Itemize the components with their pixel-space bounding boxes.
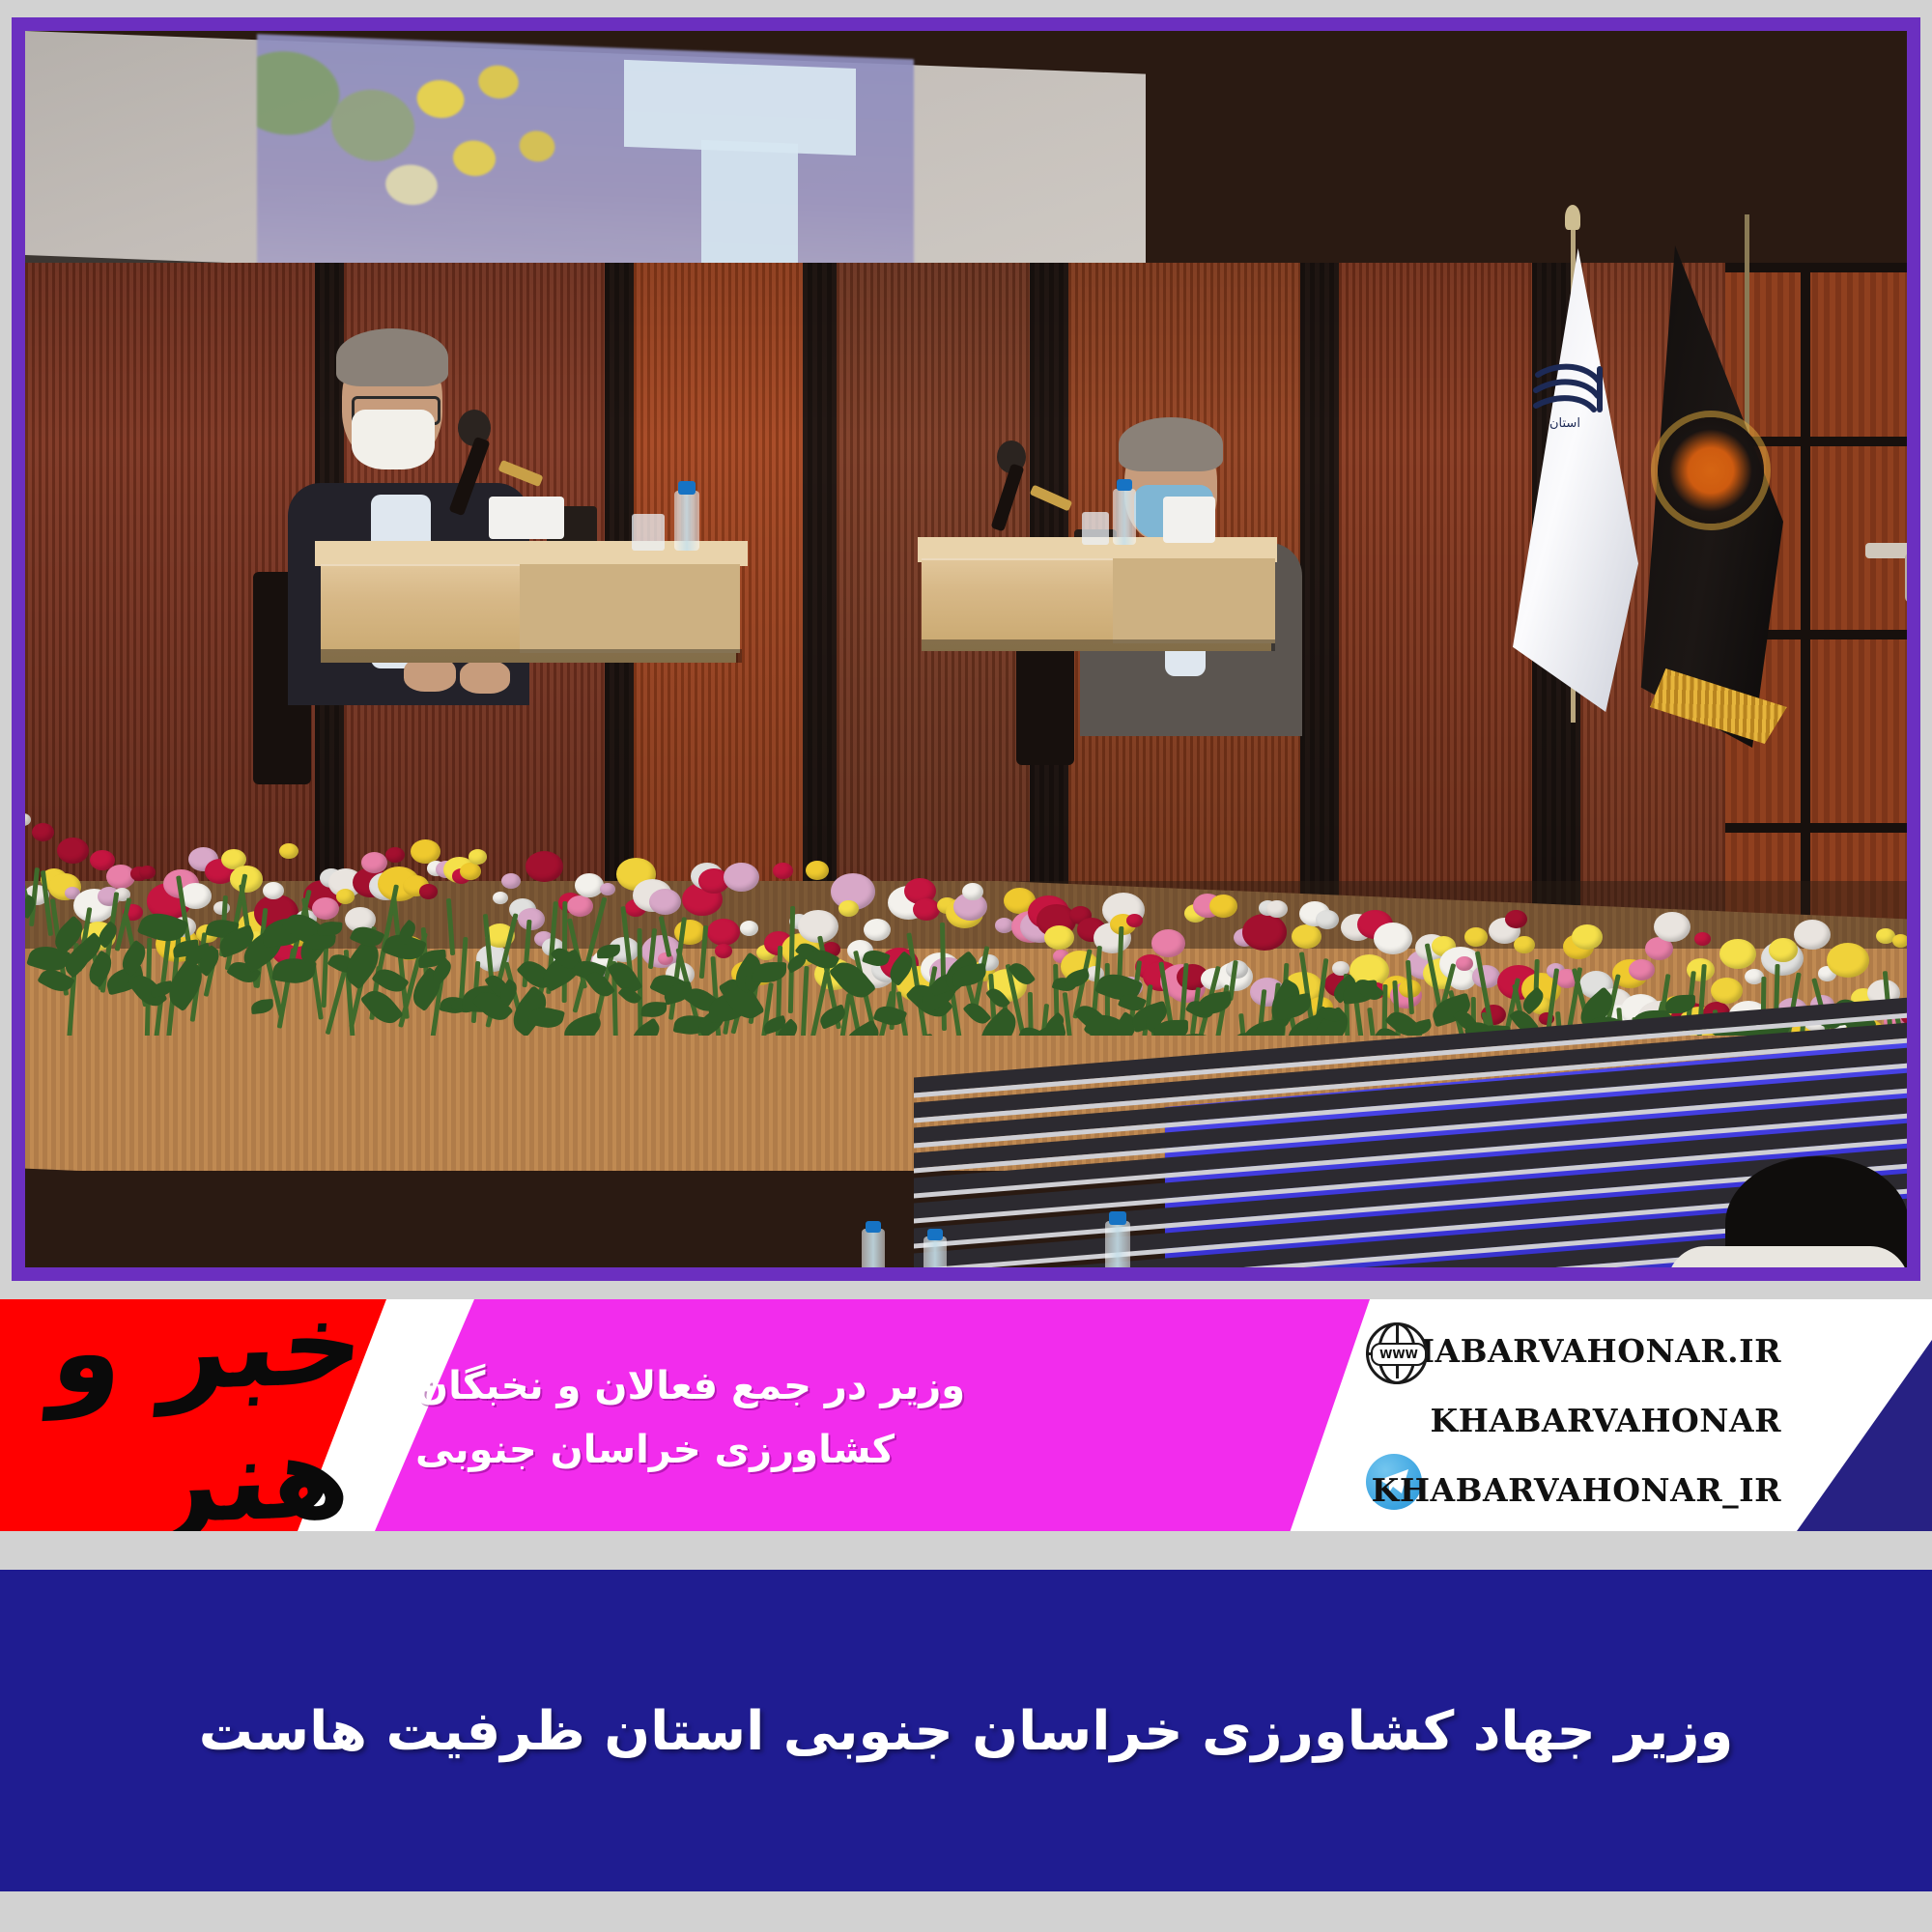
drinking-glass-left [632,514,665,551]
water-bottle-floor [862,1229,885,1267]
flower [263,882,284,899]
flower [1374,923,1412,954]
flower [57,838,89,864]
flower [1505,910,1527,928]
drinking-glass-right [1082,512,1109,545]
desk-right-lower [1113,558,1275,643]
flower [1292,924,1321,949]
flower [1456,956,1473,971]
flower [361,852,387,873]
banner-caption-line-2: کشاورزی خراسان جنوبی [415,1426,895,1474]
flag-finial [1565,205,1580,230]
globe-icon[interactable]: WWW [1366,1322,1428,1384]
flower [336,889,355,904]
flower [526,851,563,882]
social-links: KHABARVAHONAR.IR WWW KHABARVAHONAR KHABA… [1381,1319,1864,1517]
water-bottle-cap-right [1117,479,1132,491]
flower [1126,914,1143,927]
flower [649,889,681,915]
poster-page: استان [0,0,1932,1932]
flower [1464,927,1488,947]
flower [567,895,593,917]
flower [279,843,298,859]
door-handle-grip [1905,553,1907,603]
water-bottle-floor [1105,1221,1130,1267]
social-row-telegram[interactable]: KHABARVAHONAR [1366,1394,1781,1446]
flower-stem [799,966,809,1036]
flower [740,921,758,936]
banner-caption: وزیر در جمع فعالان و نخبگان کشاورزی خراس… [415,1326,1291,1510]
flower [419,884,438,899]
flower-leaf [641,1001,668,1017]
headline-text: وزیر جهاد کشاورزی خراسان جنوبی استان ظرف… [0,1570,1932,1893]
flower [707,919,740,946]
flower [1572,924,1603,950]
flower [312,897,339,920]
flower [806,861,829,880]
water-bottle-right [1113,489,1136,545]
banner-caption-line-1: وزیر در جمع فعالان و نخبگان [415,1362,965,1410]
flower-stem [446,898,455,955]
flower [1694,932,1711,946]
flower [1472,965,1500,988]
water-bottle-left [674,491,699,551]
flower [139,866,156,879]
flower-leaf [627,1017,664,1036]
flower [600,883,615,895]
brand-banner: خبر و هنر وزیر در جمع فعالان و نخبگان کش… [0,1299,1932,1531]
globe-www-label: WWW [1371,1343,1427,1366]
site-logo[interactable]: خبر و هنر [11,1313,367,1518]
flower [1044,925,1074,950]
flower [32,823,54,841]
flower [493,892,508,904]
flower [1794,920,1831,950]
flower [575,873,604,897]
desk-left-lower [520,564,740,653]
audience-shoulder [1667,1246,1907,1267]
iran-emblem-icon: استان [1530,350,1627,437]
flower [385,847,405,863]
water-bottle-floor-cap [1109,1211,1126,1225]
flower [1266,900,1288,918]
photo-frame: استان [12,17,1920,1281]
telegram-handle: KHABARVAHONAR [1431,1402,1781,1439]
separator-strip [0,1531,1932,1570]
flower [1654,912,1690,942]
flower [1209,895,1237,918]
flower [1629,959,1655,980]
desk-left-shadow [321,649,742,663]
flower [1827,943,1869,978]
flower [773,863,793,879]
water-bottle-floor [923,1236,947,1267]
flower [715,944,732,958]
speaker-left-face-mask [352,410,435,469]
flower [1151,929,1185,957]
website-handle: KHABARVAHONAR.IR [1377,1332,1781,1370]
flower-row [25,707,1907,1036]
flower [1514,936,1535,953]
flower [1769,938,1798,962]
speaker-right-hair [1119,417,1223,471]
water-bottle-floor-cap [866,1221,881,1233]
speaker-left-hair [336,328,448,386]
flower [962,883,983,900]
flower-leaf [250,999,273,1014]
svg-text:استان: استان [1549,416,1580,431]
flower [864,919,891,941]
flower [460,863,481,880]
page-bottom-margin [0,1891,1932,1932]
flower [1892,934,1907,948]
speaker-left-hand [460,661,510,694]
door-handle [1865,543,1907,558]
water-bottle-cap-left [678,481,696,495]
event-photo: استان [25,31,1907,1267]
flower [1242,914,1287,951]
flower [501,873,521,889]
tissue-box-right [1163,497,1215,543]
instagram-handle: KHABARVAHONAR_IR [1372,1471,1781,1509]
flower-leaf [560,1012,604,1036]
flower [724,863,759,892]
flower [1316,910,1339,929]
social-row-website[interactable]: KHABARVAHONAR.IR [1366,1324,1781,1377]
flower [913,898,940,921]
black-flag-seal [1658,417,1764,524]
flower-leaf [318,921,343,937]
water-bottle-floor-cap [927,1229,943,1240]
flower [25,813,31,826]
flower [1719,939,1756,969]
tissue-box-left [489,497,564,539]
door-frame-bar [1725,263,1907,272]
desk-right-shadow [922,639,1275,651]
flower [838,900,859,917]
flower [469,849,487,865]
social-row-instagram[interactable]: KHABARVAHONAR_IR [1366,1463,1781,1516]
